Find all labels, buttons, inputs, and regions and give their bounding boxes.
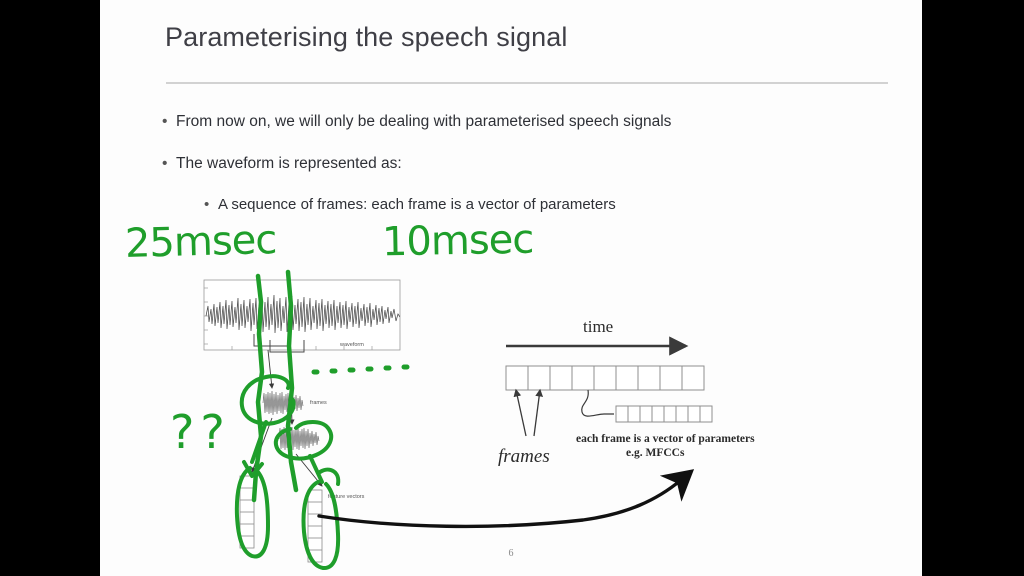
video-frame: Parameterising the speech signal •From n… bbox=[0, 0, 1024, 576]
frame-snippet-1 bbox=[263, 391, 303, 415]
frame-extract-arrow-1 bbox=[268, 350, 272, 388]
frames-label-left: frames bbox=[310, 400, 327, 406]
vector-caption-line-1: each frame is a vector of parameters bbox=[576, 433, 755, 445]
frame-vector-expanded bbox=[616, 406, 712, 422]
bullet-item-2: •The waveform is represented as: bbox=[162, 155, 402, 173]
letterbox-bar-right bbox=[922, 0, 1024, 576]
bullet-marker: • bbox=[162, 155, 176, 173]
slide-page-number: 6 bbox=[100, 548, 922, 559]
bullet-marker: • bbox=[204, 196, 218, 213]
time-axis-label: time bbox=[583, 317, 613, 336]
frame-strip bbox=[506, 366, 704, 390]
bullet-marker: • bbox=[162, 113, 176, 131]
waveform-label: waveform bbox=[339, 342, 364, 348]
bullet-text: The waveform is represented as: bbox=[176, 155, 402, 172]
bullet-item-3: •A sequence of frames: each frame is a v… bbox=[204, 196, 616, 213]
curved-arrow-path bbox=[319, 480, 681, 526]
feature-vector-column-1 bbox=[240, 476, 254, 548]
bullet-text: From now on, we will only be dealing wit… bbox=[176, 113, 671, 130]
bullet-item-1: •From now on, we will only be dealing wi… bbox=[162, 113, 671, 131]
bullet-text: A sequence of frames: each frame is a ve… bbox=[218, 196, 616, 213]
handdrawn-curved-arrow bbox=[315, 470, 735, 560]
frames-pointer-2 bbox=[534, 390, 540, 436]
page-title: Parameterising the speech signal bbox=[165, 22, 865, 53]
handwriting-window-length: 25msec bbox=[124, 217, 276, 267]
title-divider bbox=[166, 82, 888, 84]
letterbox-bar-left bbox=[0, 0, 100, 576]
frames-pointer-1 bbox=[516, 390, 526, 436]
slide-canvas: Parameterising the speech signal •From n… bbox=[100, 0, 922, 576]
frame-expand-connector bbox=[582, 390, 614, 416]
handwriting-frame-shift: 10msec bbox=[382, 217, 534, 266]
frames-label-right: frames bbox=[498, 446, 550, 467]
frames-timeline-figure: time frames bbox=[478, 310, 808, 475]
ink-dot-trail bbox=[314, 367, 407, 372]
vector-caption-line-2: e.g. MFCCs bbox=[626, 447, 685, 459]
